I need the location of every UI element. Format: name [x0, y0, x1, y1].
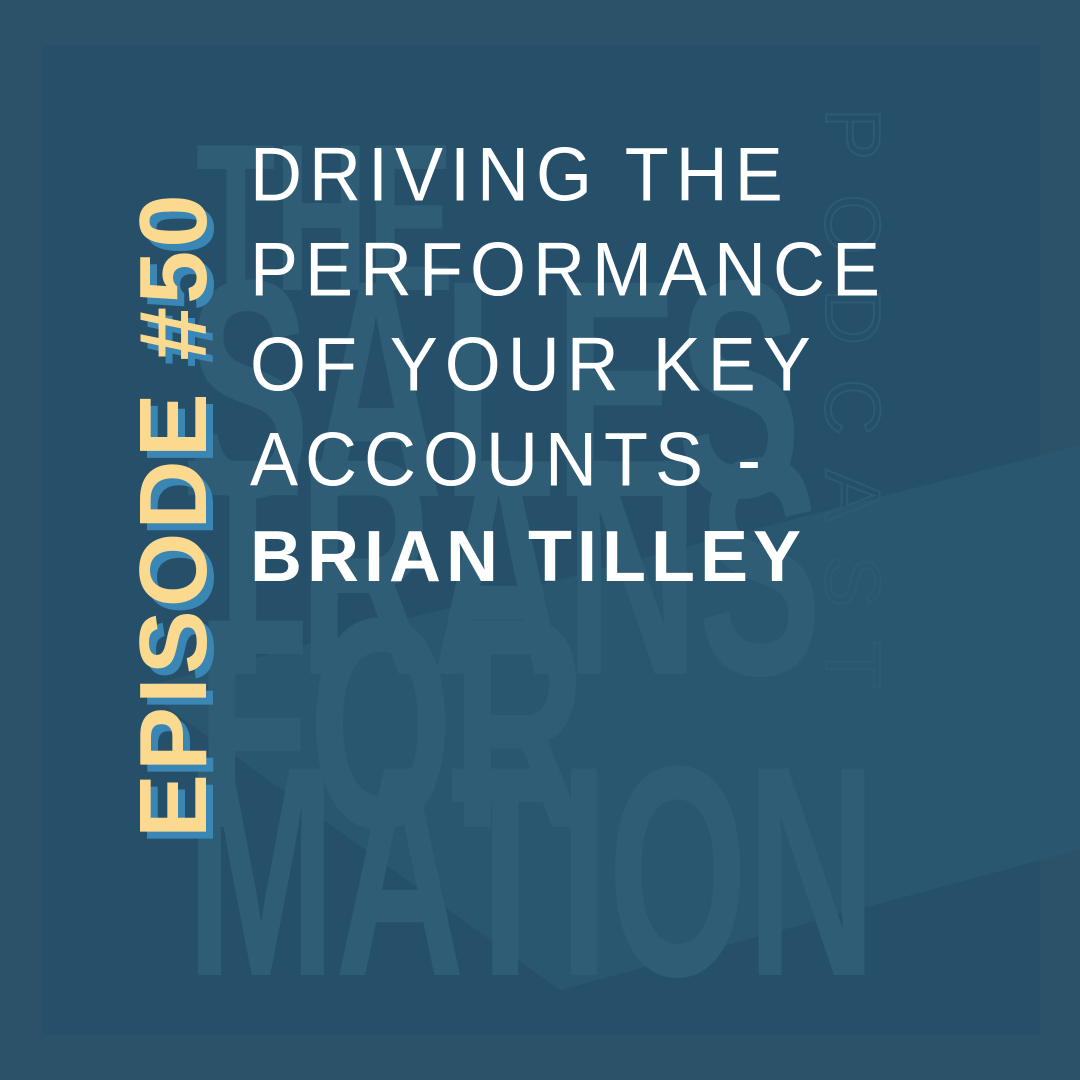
episode-title-block: DRIVING THE PERFORMANCE OF YOUR KEY ACCO… [250, 128, 950, 605]
podcast-episode-cover: THE SALES TRANS FOR MATION PODCAST EPISO… [0, 0, 1080, 1080]
title-line-1: DRIVING THE [250, 125, 950, 226]
title-line-2: PERFORMANCE [250, 220, 950, 321]
guest-name: BRIAN TILLEY [250, 510, 950, 605]
title-line-3: OF YOUR KEY [250, 315, 950, 416]
title-line-4: ACCOUNTS - [250, 410, 950, 511]
episode-number-badge: EPISODE #50 [126, 191, 222, 838]
